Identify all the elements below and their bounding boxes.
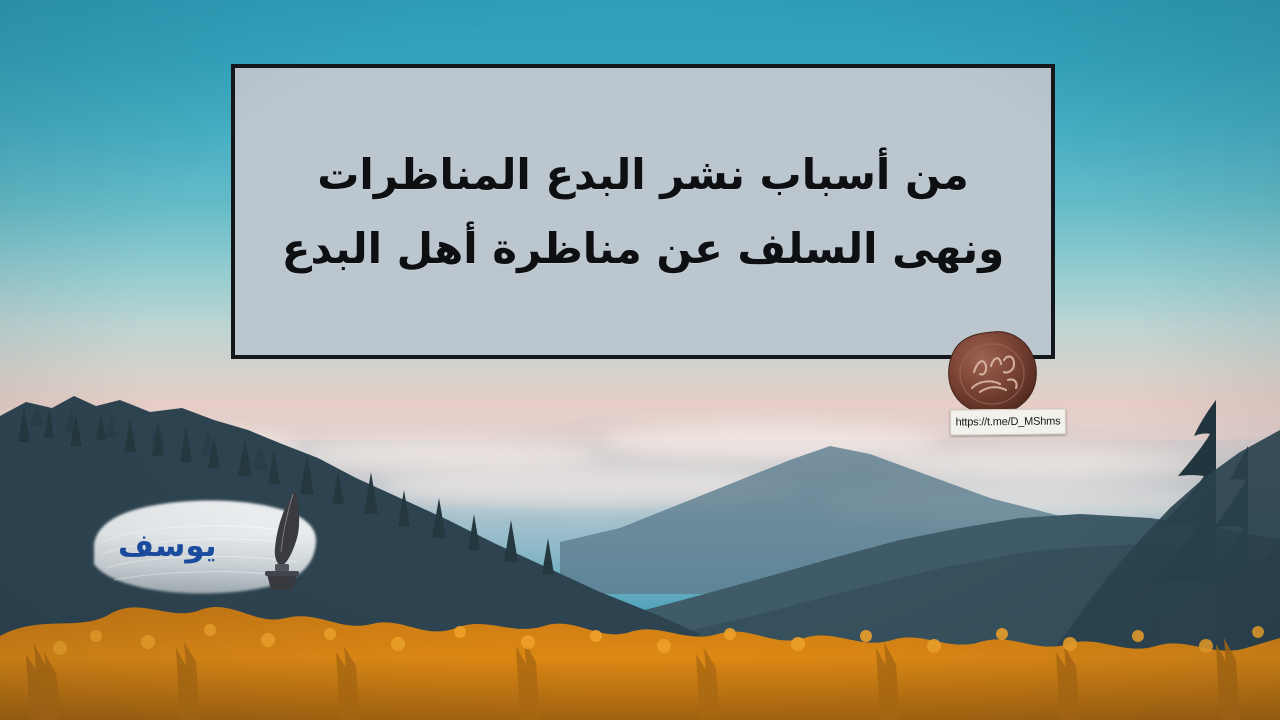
signature-name: يوسف: [118, 528, 216, 564]
seal-url-label[interactable]: https://t.me/D_MShms: [950, 408, 1066, 435]
quote-text-box: من أسباب نشر البدع المناظرات ونهى السلف …: [231, 64, 1055, 359]
quote-line-2: ونهى السلف عن مناظرة أهل البدع: [282, 221, 1004, 276]
signature-brush-stroke: يوسف: [70, 482, 370, 610]
quote-line-1: من أسباب نشر البدع المناظرات: [317, 147, 969, 202]
quote-card-canvas: من أسباب نشر البدع المناظرات ونهى السلف …: [0, 0, 1280, 720]
quill-and-inkwell-icon: [255, 486, 321, 592]
wax-seal-icon: [946, 330, 1040, 418]
wax-seal-watermark[interactable]: https://t.me/D_MShms: [946, 330, 1058, 450]
brush-stroke-shape: [70, 482, 370, 610]
